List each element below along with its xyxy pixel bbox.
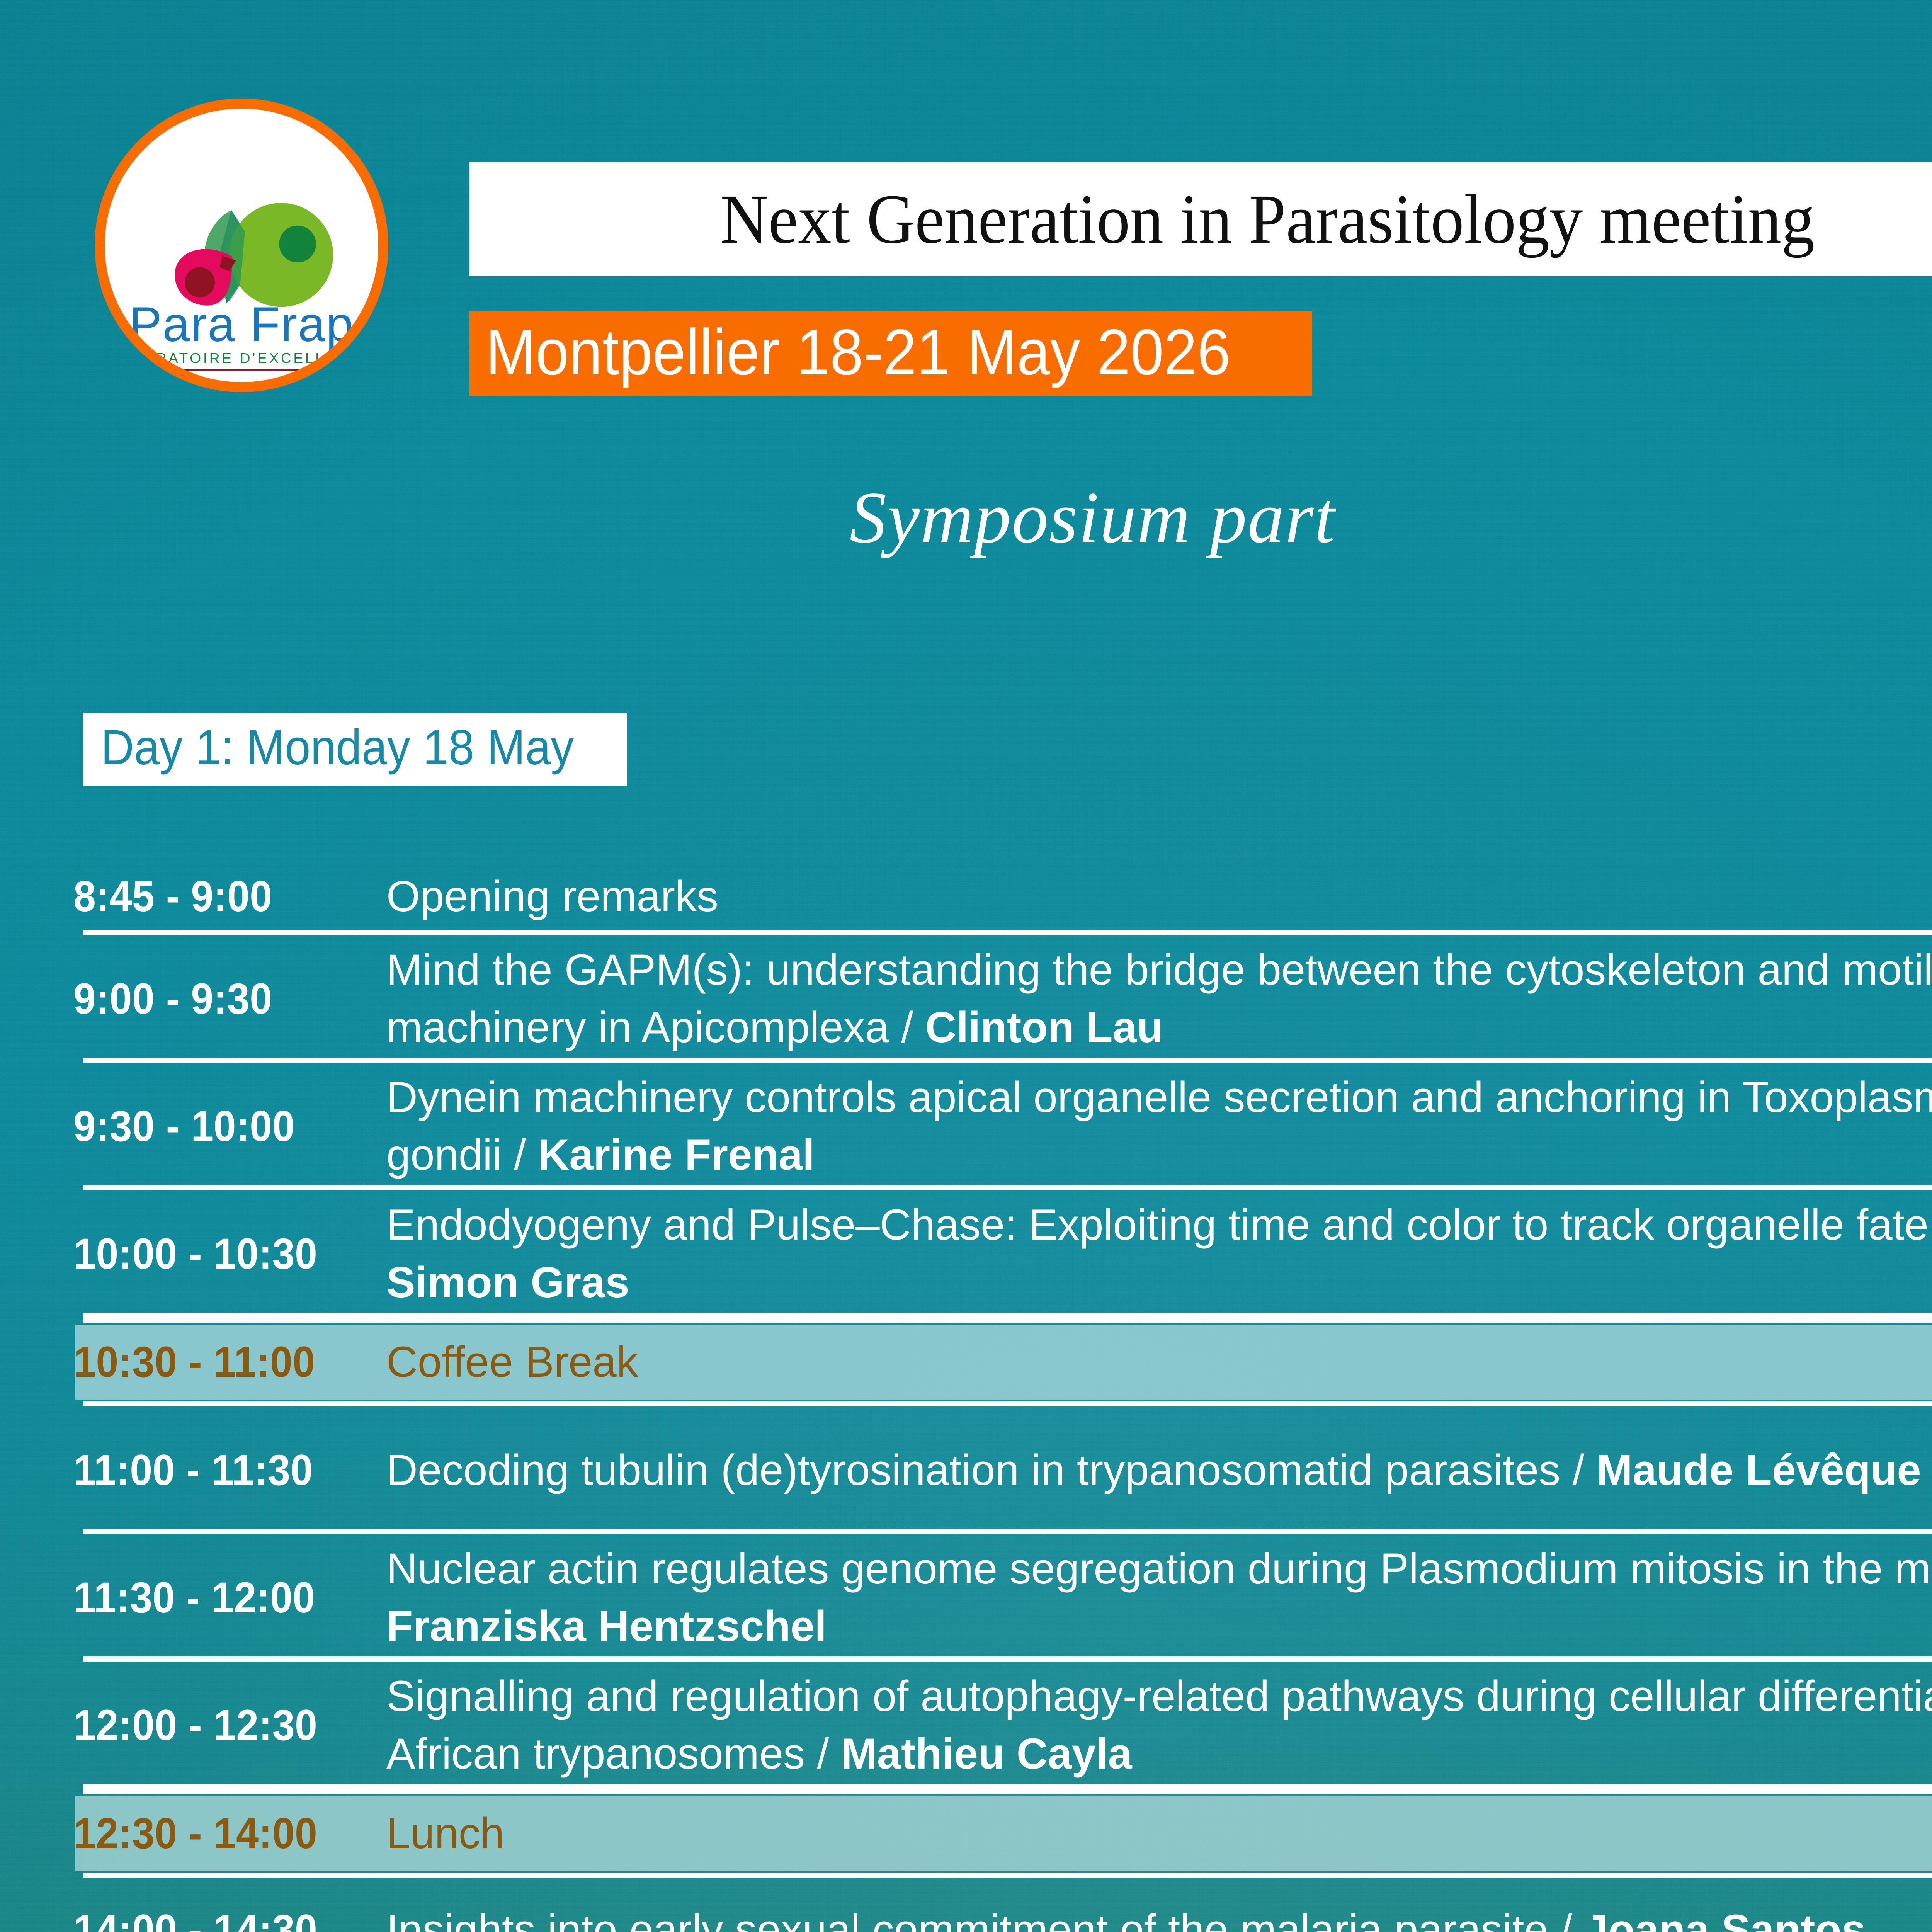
session-speaker: Clinton Lau	[925, 1003, 1163, 1051]
session-description: Insights into early sexual commitment of…	[386, 1901, 1932, 1932]
schedule-row: 9:00 - 9:30Mind the GAPM(s): understandi…	[0, 935, 1932, 1063]
session-description: Opening remarks	[386, 868, 1932, 925]
day-badge: Day 1: Monday 18 May	[83, 713, 627, 786]
schedule-break-row: 12:30 - 14:00Lunch	[0, 1789, 1932, 1878]
schedule-list: 8:45 - 9:00Opening remarks9:00 - 9:30Min…	[0, 858, 1932, 1932]
schedule-row-content: 11:00 - 11:30Decoding tubulin (de)tyrosi…	[0, 1406, 1932, 1534]
session-title: Coffee Break	[386, 1338, 638, 1386]
session-time: 11:30 - 12:00	[73, 1573, 364, 1622]
session-title: Endodyogeny and Pulse–Chase: Exploiting …	[386, 1201, 1932, 1249]
meeting-title: Next Generation in Parasitology meeting	[720, 184, 1815, 255]
poster-header: Para Frap LABORATOIRE D'EXCELLENCE Next …	[0, 0, 1932, 456]
schedule-row: 8:45 - 9:00Opening remarks	[0, 858, 1932, 935]
row-separator	[83, 1529, 1932, 1534]
row-separator	[83, 1656, 1932, 1662]
row-separator	[83, 1789, 1932, 1794]
session-description: Decoding tubulin (de)tyrosination in try…	[386, 1442, 1932, 1499]
session-speaker: Simon Gras	[386, 1258, 629, 1306]
row-separator	[83, 1318, 1932, 1323]
session-title: Opening remarks	[386, 872, 718, 920]
session-title-speaker-separator: /	[1572, 1446, 1596, 1494]
meeting-title-banner: Next Generation in Parasitology meeting	[469, 162, 1932, 276]
schedule-row-content: 10:00 - 10:30Endodyogeny and Pulse–Chase…	[0, 1190, 1932, 1318]
session-time: 11:00 - 11:30	[73, 1446, 364, 1494]
parafrap-logo-mark: Para Frap LABORATOIRE D'EXCELLENCE	[105, 109, 378, 382]
schedule-row-content: 9:00 - 9:30Mind the GAPM(s): understandi…	[0, 935, 1932, 1063]
logo-tagline: LABORATOIRE D'EXCELLENCE	[109, 350, 374, 366]
session-time: 12:00 - 12:30	[73, 1701, 364, 1749]
schedule-row-content: 10:30 - 11:00Coffee Break	[0, 1318, 1932, 1406]
row-separator	[83, 1185, 1932, 1190]
schedule-row: 9:30 - 10:00Dynein machinery controls ap…	[0, 1063, 1932, 1190]
schedule-row-content: 12:00 - 12:30Signalling and regulation o…	[0, 1662, 1932, 1789]
schedule-row-content: 11:30 - 12:00Nuclear actin regulates gen…	[0, 1534, 1932, 1662]
day-label: Day 1: Monday 18 May	[101, 723, 574, 772]
poster-canvas: Para Frap LABORATOIRE D'EXCELLENCE Next …	[0, 0, 1932, 1932]
schedule-break-row: 10:30 - 11:00Coffee Break	[0, 1318, 1932, 1406]
session-title: Nuclear actin regulates genome segregati…	[386, 1544, 1932, 1593]
row-separator	[83, 930, 1932, 935]
schedule-row-content: 9:30 - 10:00Dynein machinery controls ap…	[0, 1063, 1932, 1190]
session-speaker: Joana Santos	[1584, 1906, 1866, 1932]
section-title-wrap: Symposium part	[0, 481, 1932, 554]
session-description: Nuclear actin regulates genome segregati…	[386, 1540, 1932, 1655]
section-title: Symposium part	[850, 477, 1336, 558]
session-title: Lunch	[386, 1809, 504, 1857]
session-description: Coffee Break	[386, 1333, 1932, 1391]
schedule-row-content: 14:00 - 14:30Insights into early sexual …	[0, 1878, 1932, 1932]
session-time: 9:30 - 10:00	[73, 1102, 364, 1150]
session-title: Insights into early sexual commitment of…	[386, 1906, 1560, 1932]
row-separator	[83, 1058, 1932, 1063]
schedule-row: 10:00 - 10:30Endodyogeny and Pulse–Chase…	[0, 1190, 1932, 1318]
schedule-row: 11:30 - 12:00Nuclear actin regulates gen…	[0, 1534, 1932, 1662]
schedule-row: 11:00 - 11:30Decoding tubulin (de)tyrosi…	[0, 1406, 1932, 1534]
session-time: 8:45 - 9:00	[73, 872, 364, 920]
session-title-speaker-separator: /	[514, 1131, 538, 1179]
session-time: 10:30 - 11:00	[73, 1338, 364, 1386]
session-speaker: Karine Frenal	[538, 1131, 815, 1179]
session-time: 9:00 - 9:30	[73, 975, 364, 1023]
session-title: Signalling and regulation of autophagy-r…	[386, 1672, 1932, 1778]
session-title-speaker-separator: /	[1560, 1906, 1584, 1932]
schedule-row: 14:00 - 14:30Insights into early sexual …	[0, 1878, 1932, 1932]
session-description: Dynein machinery controls apical organel…	[386, 1069, 1932, 1184]
session-description: Lunch	[386, 1805, 1932, 1862]
row-separator	[83, 1784, 1932, 1789]
parafrap-logo: Para Frap LABORATOIRE D'EXCELLENCE	[95, 99, 388, 392]
session-speaker: Maude Lévêque	[1596, 1446, 1921, 1494]
session-time: 10:00 - 10:30	[73, 1230, 364, 1278]
meeting-date-badge: Montpellier 18-21 May 2026	[469, 311, 1312, 396]
session-speaker: Mathieu Cayla	[841, 1730, 1132, 1778]
schedule-row-content: 12:30 - 14:00Lunch	[0, 1789, 1932, 1878]
session-description: Endodyogeny and Pulse–Chase: Exploiting …	[386, 1196, 1932, 1311]
session-title: Decoding tubulin (de)tyrosination in try…	[386, 1446, 1572, 1494]
session-time: 14:00 - 14:30	[73, 1906, 364, 1932]
schedule-row: 12:00 - 12:30Signalling and regulation o…	[0, 1662, 1932, 1789]
session-speaker: Franziska Hentzschel	[386, 1602, 827, 1650]
schedule-row-content: 8:45 - 9:00Opening remarks	[0, 858, 1932, 935]
session-title-speaker-separator: /	[817, 1730, 841, 1778]
session-description: Mind the GAPM(s): understanding the brid…	[386, 941, 1932, 1056]
logo-wordmark: Para Frap	[129, 297, 354, 352]
row-separator	[83, 1873, 1932, 1878]
meeting-date-location: Montpellier 18-21 May 2026	[486, 320, 1231, 384]
session-time: 12:30 - 14:00	[73, 1809, 364, 1857]
row-separator	[83, 1313, 1932, 1318]
session-title-speaker-separator: /	[901, 1003, 925, 1051]
row-separator	[83, 1401, 1932, 1406]
session-description: Signalling and regulation of autophagy-r…	[386, 1668, 1932, 1783]
